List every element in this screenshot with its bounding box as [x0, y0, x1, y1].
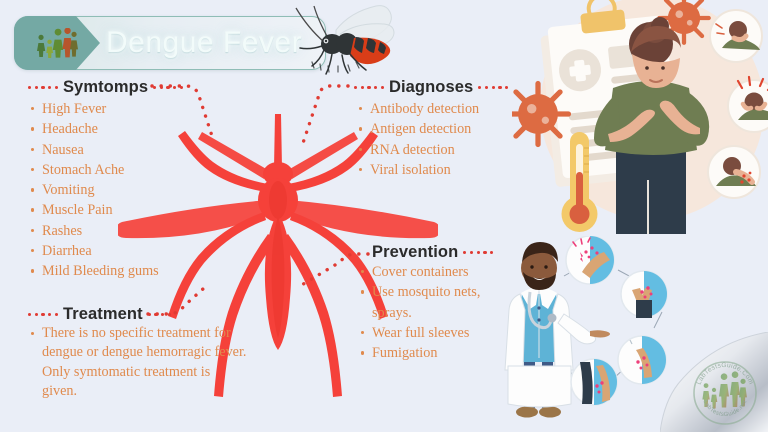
prevention-list: Cover containers Use mosquito nets, spra… — [360, 262, 505, 363]
list-item: RNA detection — [358, 140, 523, 160]
sick-woman-illustration — [512, 0, 768, 234]
section-heading-treatment: Treatment — [28, 305, 171, 324]
list-item: High Fever — [30, 99, 220, 119]
diagnoses-heading-label: Diagnoses — [389, 78, 473, 97]
symptoms-list: High Fever Headache Nausea Stomach Ache … — [30, 99, 220, 282]
dotted-decoration-right — [153, 86, 183, 89]
page-title: Dengue Fever — [106, 22, 316, 64]
family-group-icon — [702, 371, 747, 408]
treatment-heading-label: Treatment — [63, 305, 143, 324]
symptoms-heading-label: Symtomps — [63, 78, 148, 97]
rash-bubble-group — [566, 236, 667, 405]
list-item: Wear full sleeves — [360, 323, 505, 343]
dotted-decoration-right — [148, 313, 171, 316]
list-item: Use mosquito nets, sprays. — [360, 282, 505, 323]
list-item: Mild Bleeding gums — [30, 261, 220, 281]
list-item: Cover containers — [360, 262, 505, 282]
family-group-icon — [33, 28, 81, 58]
list-item: Muscle Pain — [30, 200, 220, 220]
list-item: Antibody detection — [358, 99, 523, 119]
dotted-decoration-left — [28, 313, 58, 316]
treatment-list: There is no specific treatment for dengu… — [30, 324, 248, 401]
section-heading-diagnoses: Diagnoses — [354, 78, 508, 97]
diagnoses-list: Antibody detection Antigen detection RNA… — [358, 99, 523, 180]
list-item: Viral isolation — [358, 160, 523, 180]
dotted-decoration-left — [354, 86, 384, 89]
prevention-heading-label: Prevention — [372, 243, 458, 262]
dotted-decoration-right — [463, 251, 493, 254]
watermark-logo: LabTestsGuide.Com LabTestsGuide.net — [690, 358, 760, 428]
dengue-fever-infographic: Dengue Fever — [0, 0, 768, 432]
list-item: Headache — [30, 119, 220, 139]
dotted-decoration-left — [28, 86, 58, 89]
list-item: Antigen detection — [358, 119, 523, 139]
list-item: Fumigation — [360, 343, 505, 363]
dotted-decoration-right — [478, 86, 508, 89]
list-item: Diarrhea — [30, 241, 220, 261]
list-item: Rashes — [30, 221, 220, 241]
list-item: Stomach Ache — [30, 160, 220, 180]
list-item: Vomiting — [30, 180, 220, 200]
list-item: Nausea — [30, 140, 220, 160]
section-heading-prevention: Prevention — [372, 243, 493, 262]
section-heading-symptoms: Symtomps — [28, 78, 183, 97]
list-item: There is no specific treatment for dengu… — [30, 324, 248, 401]
mosquito-icon — [292, 2, 404, 76]
